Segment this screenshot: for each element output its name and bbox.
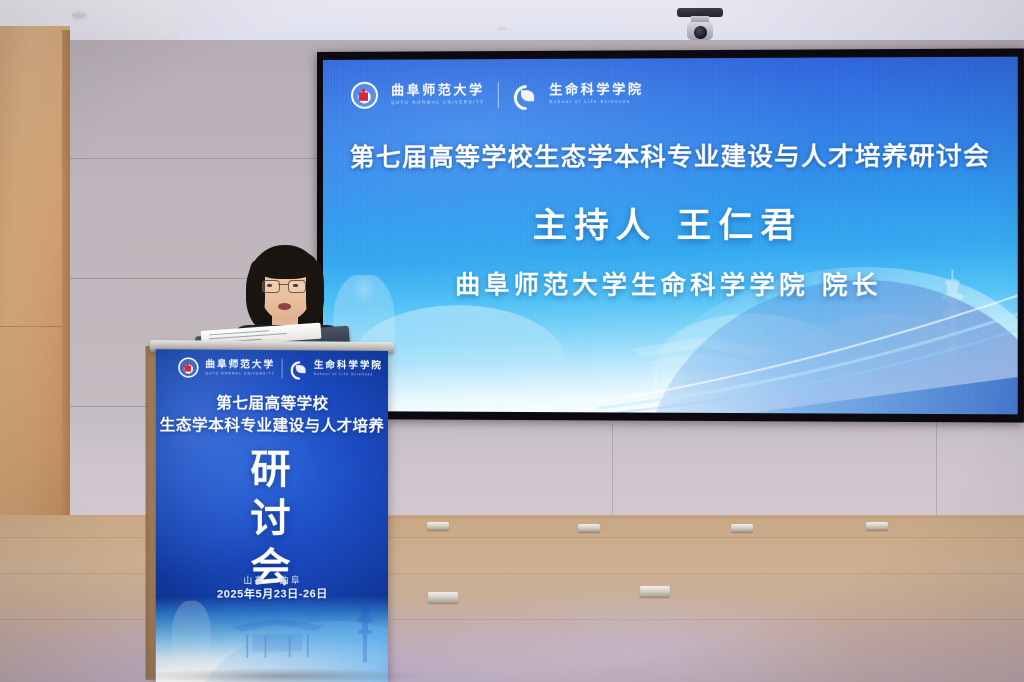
university-name-cn: 曲阜师范大学 [391,85,485,98]
podium-big-char-2: 讨 [156,495,388,544]
screen-host-affiliation: 曲阜师范大学生命科学学院 院长 [323,265,1018,302]
podium-dates: 2025年5月23日-26日 [156,585,388,602]
eyeglasses-icon [262,280,280,293]
floor-socket-cover [427,522,449,530]
podium-title-line1: 第七届高等学校 [156,392,388,415]
screen-logo-bar: 曲阜师范大学 QUFU NORMAL UNIVERSITY 生命科学学院 Sch… [351,81,644,109]
life-sciences-leaf-icon [289,360,307,376]
podium-lectern: 曲阜师范大学 QUFU NORMAL UNIVERSITY 生命科学学院 Sch… [156,349,388,682]
led-screen-display: 曲阜师范大学 QUFU NORMAL UNIVERSITY 生命科学学院 Sch… [323,57,1018,415]
camera-lens-icon [694,26,707,39]
podium-big-char-1: 研 [156,445,388,495]
school-name-en: School of Life Sciences [549,100,643,105]
podium-floor-shadow [140,668,420,682]
ceiling-downlight [497,27,507,31]
confucius-statue-silhouette [172,601,211,672]
university-name-en: QUFU NORMAL UNIVERSITY [205,372,275,376]
university-name-cn: 曲阜师范大学 [205,360,275,370]
ptz-camera-icon [677,8,723,44]
logo-divider [498,82,499,108]
school-name-cn: 生命科学学院 [549,84,643,97]
podium-front-panel: 曲阜师范大学 QUFU NORMAL UNIVERSITY 生命科学学院 Sch… [156,349,388,682]
university-name-en: QUFU NORMAL UNIVERSITY [391,101,485,106]
qufu-university-seal-icon [351,82,378,109]
led-screen-bezel: 曲阜师范大学 QUFU NORMAL UNIVERSITY 生命科学学院 Sch… [317,48,1024,422]
podium-logo-bar: 曲阜师范大学 QUFU NORMAL UNIVERSITY 生命科学学院 Sch… [178,357,383,379]
life-sciences-leaf-icon [512,84,536,106]
floor-socket-cover [578,524,600,532]
ceiling-downlight [72,13,86,18]
school-name-cn: 生命科学学院 [314,361,383,371]
qufu-university-seal-icon [178,357,198,377]
podium-calligraphy-block: 研 讨 会 [156,445,388,593]
floor-socket-cover [731,524,753,532]
school-name-en: School of Life Sciences [314,373,383,377]
eyeglasses-icon [288,280,306,293]
wood-wall-edge [62,30,70,526]
floor-socket-cover [640,586,670,597]
wood-wall-shading [0,26,70,526]
screen-host-name: 主持人 王仁君 [323,197,1018,247]
podium-title-block: 第七届高等学校 生态学本科专业建设与人才培养 [156,392,388,437]
podium-title-line2: 生态学本科专业建设与人才培养 [156,414,388,437]
traditional-gate-silhouette [229,614,326,659]
pagoda-tower-silhouette [356,600,374,662]
logo-divider [282,359,283,378]
screen-conference-title: 第七届高等学校生态学本科专业建设与人才培养研讨会 [323,136,1018,174]
floor-socket-cover [428,592,458,603]
ceiling-inner-panel [180,0,1024,40]
floor-light-reflection [380,560,1020,682]
floor-socket-cover [866,522,888,530]
conference-hall-scene: 曲阜师范大学 QUFU NORMAL UNIVERSITY 生命科学学院 Sch… [0,0,1024,682]
